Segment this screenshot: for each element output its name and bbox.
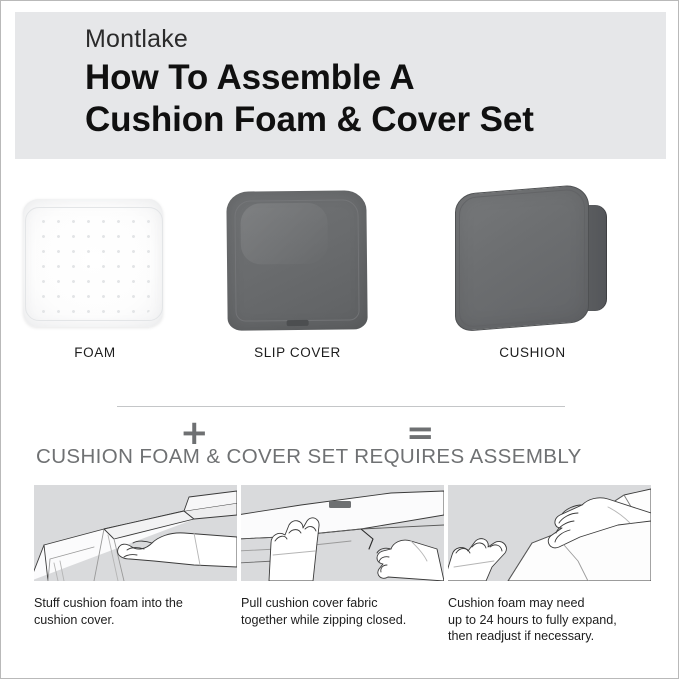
foam-texture-dots [33,211,153,315]
assembly-step: Stuff cushion foam into the cushion cove… [34,485,237,628]
caption-line: Stuff cushion foam into the [34,595,237,612]
assembly-step-caption: Cushion foam may need up to 24 hours to … [448,595,651,645]
readjusting-cushion-illustration [448,485,651,581]
cushion-piping [459,188,585,328]
foam-cushion-icon [23,199,163,327]
cushion-front-face [455,184,589,333]
slip-cover-icon [226,190,367,330]
assembly-step-caption: Pull cushion cover fabric together while… [241,595,444,628]
product-slip-cover: SLIP COVER [215,173,380,333]
stuffing-foam-illustration [34,485,237,581]
caption-line: Cushion foam may need [448,595,651,612]
assembly-step-caption: Stuff cushion foam into the cushion cove… [34,595,237,628]
section-divider [117,406,565,407]
product-foam: FOAM [15,173,175,333]
product-label-cushion: CUSHION [445,345,620,360]
headline-line-2: Cushion Foam & Cover Set [85,99,645,141]
zipping-cover-illustration [241,485,444,581]
brand-name: Montlake [85,27,188,52]
zipper-tab-icon [287,320,309,326]
caption-line: Pull cushion cover fabric [241,595,444,612]
product-cushion: CUSHION [445,173,620,333]
headline-line-1: How To Assemble A [85,58,415,97]
caption-line: cushion cover. [34,612,237,629]
assembly-step: Pull cushion cover fabric together while… [241,485,444,628]
caption-line: together while zipping closed. [241,612,444,629]
caption-line: up to 24 hours to fully expand, [448,612,651,629]
product-equation-row: FOAM + SLIP COVER = CUSHION [1,173,679,373]
assembled-cushion-icon [455,189,607,329]
caption-line: then readjust if necessary. [448,628,651,645]
page-title: How To Assemble A Cushion Foam & Cover S… [85,57,645,142]
product-label-slip-cover: SLIP COVER [215,345,380,360]
assembly-section-title: CUSHION FOAM & COVER SET REQUIRES ASSEMB… [36,445,582,469]
infographic-page: Montlake How To Assemble A Cushion Foam … [0,0,679,679]
product-label-foam: FOAM [15,345,175,360]
slip-cover-highlight [240,203,327,265]
assembly-step: Cushion foam may need up to 24 hours to … [448,485,651,645]
